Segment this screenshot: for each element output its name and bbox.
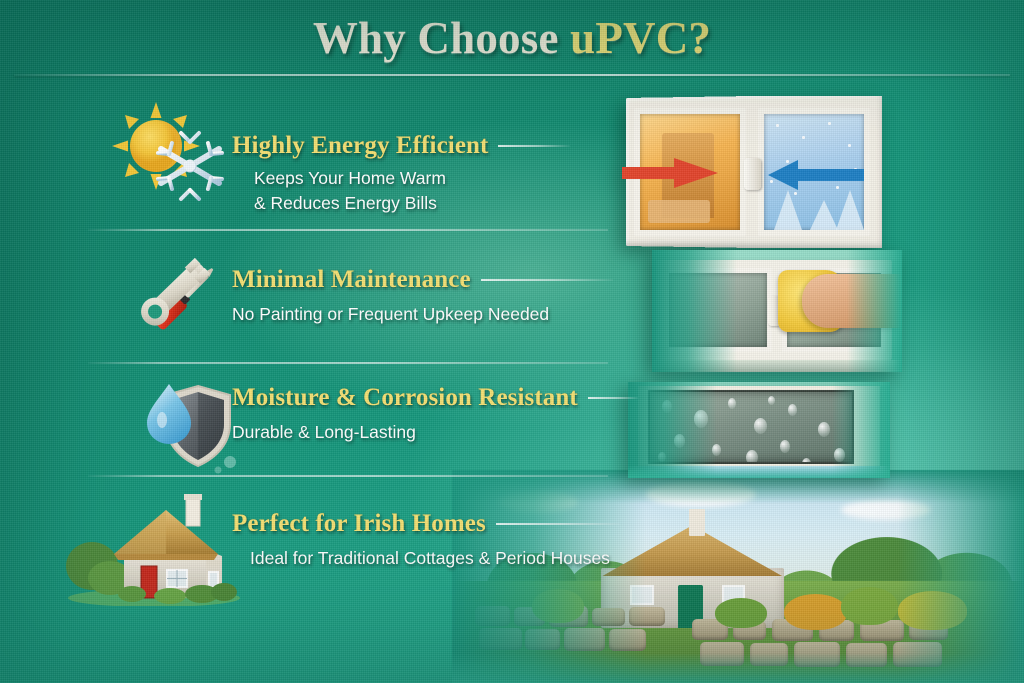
feature-description-line-2: & Reduces Energy Bills xyxy=(254,191,570,216)
heading-underline xyxy=(481,279,613,281)
feature-heading-row: Highly Energy Efficient xyxy=(232,132,570,160)
page-title: Why Choose uPVC? xyxy=(313,16,711,61)
feature-heading-row: Moisture & Corrosion Resistant xyxy=(232,384,638,412)
feature-description-line-1: Durable & Long-Lasting xyxy=(232,420,638,445)
feature-list: Highly Energy Efficient Keeps Your Home … xyxy=(0,76,1024,683)
feature-text-minimal-maintenance: Minimal Maintenance No Painting or Frequ… xyxy=(232,266,613,327)
feature-heading: Moisture & Corrosion Resistant xyxy=(232,384,578,412)
feature-text-energy-efficient: Highly Energy Efficient Keeps Your Home … xyxy=(232,132,570,216)
page-title-part-1: Why Choose xyxy=(313,13,570,63)
feature-description-line-1: Ideal for Traditional Cottages & Period … xyxy=(250,546,620,571)
row-divider-1 xyxy=(88,229,608,231)
feature-heading: Perfect for Irish Homes xyxy=(232,510,486,538)
feature-heading-row: Perfect for Irish Homes xyxy=(232,510,620,538)
row-divider-3 xyxy=(88,475,608,477)
feature-heading-row: Minimal Maintenance xyxy=(232,266,613,294)
wrench-screwdriver-icon xyxy=(122,246,238,354)
feature-row-energy-efficient: Highly Energy Efficient Keeps Your Home … xyxy=(0,94,620,234)
row-divider-2 xyxy=(88,362,608,364)
feature-row-moisture-resistant: Moisture & Corrosion Resistant Durable &… xyxy=(0,376,620,486)
feature-row-minimal-maintenance: Minimal Maintenance No Painting or Frequ… xyxy=(0,244,620,362)
feature-text-moisture-resistant: Moisture & Corrosion Resistant Durable &… xyxy=(232,384,638,445)
thatched-cottage-icon xyxy=(62,494,242,606)
heading-underline xyxy=(498,145,570,147)
page-title-part-2: uPVC? xyxy=(570,13,711,63)
header-divider xyxy=(14,74,1010,76)
feature-description-line-1: No Painting or Frequent Upkeep Needed xyxy=(232,302,613,327)
heading-underline xyxy=(588,397,638,399)
feature-heading: Minimal Maintenance xyxy=(232,266,471,294)
infographic-canvas: Why Choose uPVC? xyxy=(0,0,1024,683)
heading-underline xyxy=(496,523,620,525)
header: Why Choose uPVC? xyxy=(0,0,1024,76)
sun-snowflake-icon xyxy=(112,100,232,210)
feature-text-irish-homes: Perfect for Irish Homes Ideal for Tradit… xyxy=(232,510,620,571)
feature-description-line-1: Keeps Your Home Warm xyxy=(254,166,570,191)
feature-heading: Highly Energy Efficient xyxy=(232,132,488,160)
feature-row-irish-homes: Perfect for Irish Homes Ideal for Tradit… xyxy=(0,488,620,618)
